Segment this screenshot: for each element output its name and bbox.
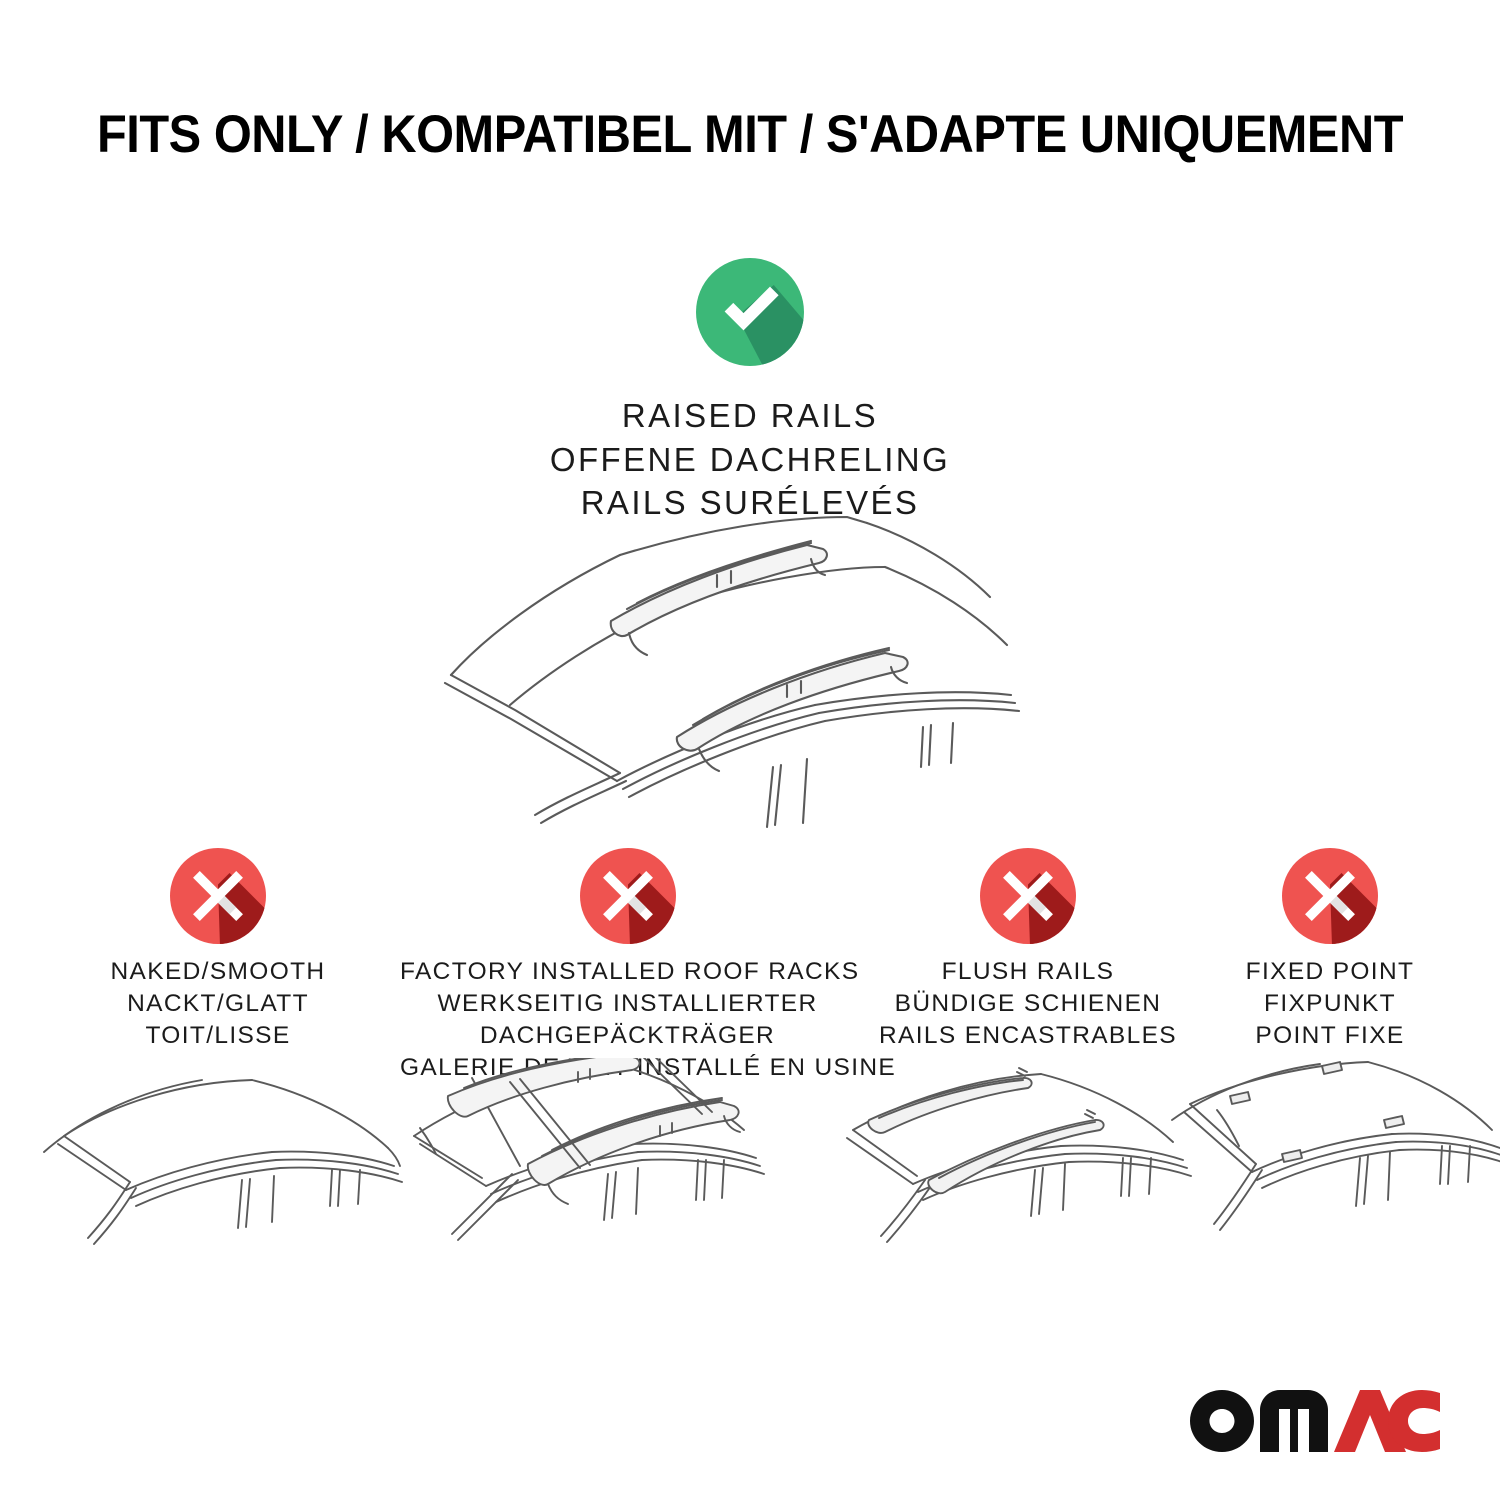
incompatible-label-1-de: NACKT/GLATT bbox=[58, 988, 378, 1020]
incompatible-label-4-en: FIXED POINT bbox=[1205, 956, 1455, 988]
x-circle-icon bbox=[580, 848, 676, 944]
car-roof-raised-rails-illustration bbox=[415, 505, 1085, 835]
compatible-label-de: OFFENE DACHRELING bbox=[375, 438, 1125, 482]
incompatible-label-1-en: NAKED/SMOOTH bbox=[58, 956, 378, 988]
incompatible-labels-4: FIXED POINT FIXPUNKT POINT FIXE bbox=[1205, 956, 1455, 1052]
incompatible-item-fixed-point: FIXED POINT FIXPUNKT POINT FIXE bbox=[1205, 848, 1455, 1052]
incompatible-label-4-de: FIXPUNKT bbox=[1205, 988, 1455, 1020]
incompatible-item-factory-installed-roof-racks: FACTORY INSTALLED ROOF RACKS WERKSEITIG … bbox=[400, 848, 855, 1084]
compatible-label-en: RAISED RAILS bbox=[375, 394, 1125, 438]
check-circle-icon bbox=[696, 258, 804, 366]
incompatible-label-2-de-line1: WERKSEITIG INSTALLIERTER bbox=[400, 988, 855, 1020]
incompatible-label-3-de: BÜNDIGE SCHIENEN bbox=[860, 988, 1196, 1020]
incompatible-label-1-fr: TOIT/LISSE bbox=[58, 1020, 378, 1052]
incompatible-label-3-fr: RAILS ENCASTRABLES bbox=[860, 1020, 1196, 1052]
incompatible-item-flush-rails: FLUSH RAILS BÜNDIGE SCHIENEN RAILS ENCAS… bbox=[860, 848, 1196, 1052]
omac-logo bbox=[1190, 1390, 1440, 1452]
incompatible-labels-3: FLUSH RAILS BÜNDIGE SCHIENEN RAILS ENCAS… bbox=[860, 956, 1196, 1052]
incompatible-labels-1: NAKED/SMOOTH NACKT/GLATT TOIT/LISSE bbox=[58, 956, 378, 1052]
incompatible-label-2-en: FACTORY INSTALLED ROOF RACKS bbox=[400, 956, 855, 988]
incompatible-label-4-fr: POINT FIXE bbox=[1205, 1020, 1455, 1052]
incompatible-label-2-de-line2: DACHGEPÄCKTRÄGER bbox=[400, 1020, 855, 1052]
page-title: FITS ONLY / KOMPATIBEL MIT / S'ADAPTE UN… bbox=[60, 104, 1440, 165]
x-circle-icon bbox=[1282, 848, 1378, 944]
x-circle-icon bbox=[980, 848, 1076, 944]
logo-letter-o bbox=[1190, 1390, 1254, 1452]
car-roof-fixed-point-illustration bbox=[1170, 1058, 1500, 1298]
car-roof-naked-smooth-illustration bbox=[42, 1058, 437, 1298]
incompatible-label-3-en: FLUSH RAILS bbox=[860, 956, 1196, 988]
x-icon-wrap-3 bbox=[860, 848, 1196, 952]
compatible-section: RAISED RAILS OFFENE DACHRELING RAILS SUR… bbox=[375, 258, 1125, 525]
logo-letter-m bbox=[1260, 1390, 1328, 1452]
x-circle-icon bbox=[170, 848, 266, 944]
x-icon-wrap-4 bbox=[1205, 848, 1455, 952]
x-icon-wrap-2 bbox=[400, 848, 855, 952]
incompatible-illustrations-row bbox=[0, 1058, 1500, 1308]
car-roof-factory-racks-illustration bbox=[412, 1058, 807, 1298]
incompatible-section: NAKED/SMOOTH NACKT/GLATT TOIT/LISSE FACT… bbox=[0, 848, 1500, 1058]
x-icon-wrap-1 bbox=[58, 848, 378, 952]
incompatible-item-naked-smooth: NAKED/SMOOTH NACKT/GLATT TOIT/LISSE bbox=[58, 848, 378, 1052]
